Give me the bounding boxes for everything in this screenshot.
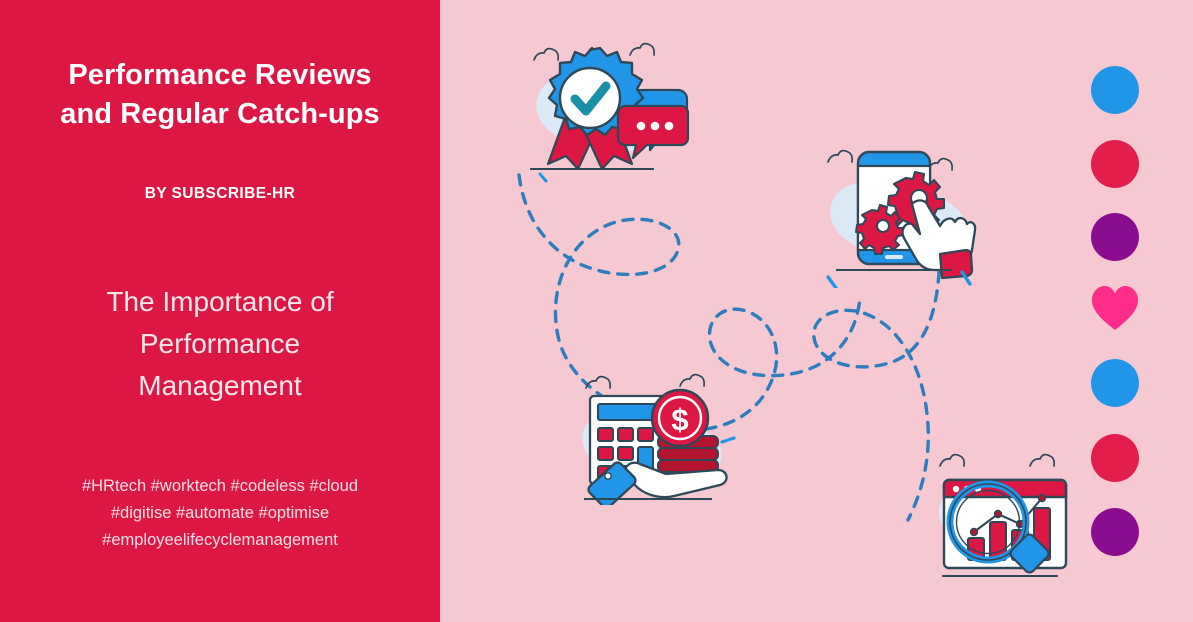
award-badge-with-chat-bubbles-illustration: [512, 38, 702, 183]
hashtag-line-1: #HRtech #worktech #codeless #cloud: [10, 473, 430, 500]
calculator-coins-hand-illustration: $: [562, 370, 742, 505]
hashtag-list: #HRtech #worktech #codeless #cloud #digi…: [10, 473, 430, 553]
hashtag-line-2: #digitise #automate #optimise: [10, 500, 430, 527]
cloud-doodles: [940, 455, 1054, 466]
dollar-coin: $: [652, 390, 708, 446]
promo-card-canvas: Performance Reviews and Regular Catch-up…: [0, 0, 1193, 622]
page-title: Performance Reviews and Regular Catch-up…: [20, 56, 420, 133]
svg-text:$: $: [671, 402, 688, 437]
subtitle-line-2: Performance: [55, 323, 385, 365]
dot-blue-1: [1091, 66, 1139, 114]
dashed-curve-connector-right: [814, 272, 939, 520]
dot-red-2: [1091, 434, 1139, 482]
byline: BY SUBSCRIBE-HR: [20, 185, 420, 203]
headline-line-2: and Regular Catch-ups: [20, 95, 420, 134]
ground-tick: [540, 174, 546, 181]
left-text-panel: Performance Reviews and Regular Catch-up…: [0, 0, 440, 622]
headline-line-1: Performance Reviews: [20, 56, 420, 95]
decorative-shape-column: [1091, 0, 1151, 622]
subtitle: The Importance of Performance Management: [55, 281, 385, 407]
heart-pink: [1091, 285, 1139, 331]
calculator-display: [598, 404, 658, 420]
hashtag-line-3: #employeelifecyclemanagement: [10, 527, 430, 554]
dot-blue-2: [1091, 359, 1139, 407]
dot-purple-1: [1091, 213, 1139, 261]
motion-ticks: [722, 438, 734, 442]
dot-red-1: [1091, 140, 1139, 188]
subtitle-line-1: The Importance of: [55, 281, 385, 323]
analytics-dashboard-magnifier-illustration: [922, 450, 1087, 590]
cloud-doodles: [586, 375, 704, 388]
smartphone-gears-tap-illustration: [812, 138, 982, 288]
illustration-stage: $: [440, 0, 1193, 622]
chat-dots: [637, 122, 674, 131]
dot-purple-2: [1091, 508, 1139, 556]
subtitle-line-3: Management: [55, 365, 385, 407]
